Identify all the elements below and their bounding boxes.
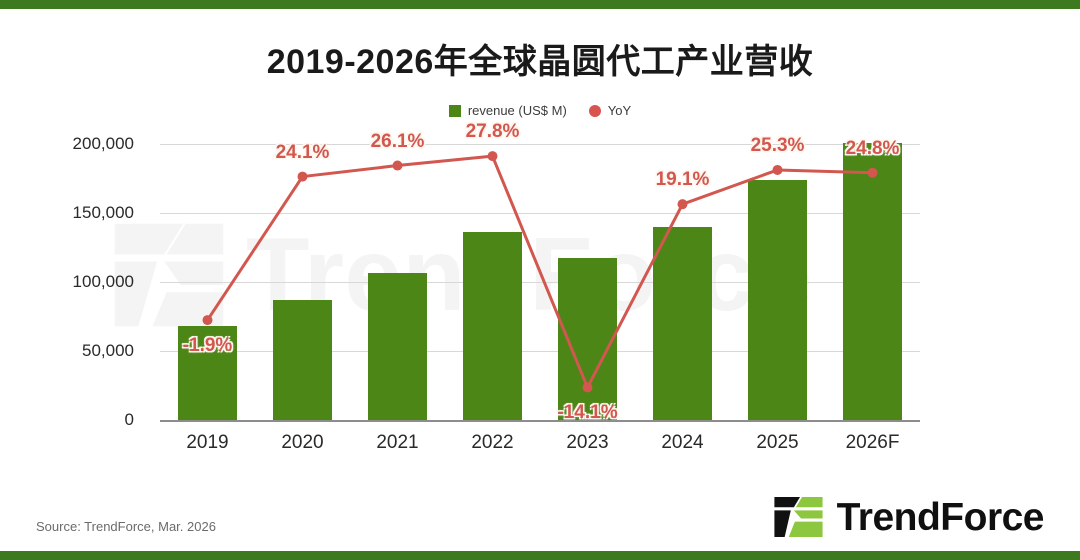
bar-2025 bbox=[748, 180, 807, 420]
x-axis-tick-labels: 20192020202120222023202420252026F bbox=[160, 432, 920, 462]
legend-circle-swatch-icon bbox=[589, 105, 601, 117]
y-axis-tick-label: 0 bbox=[125, 410, 134, 430]
bar-2024 bbox=[653, 227, 712, 420]
bar-2022 bbox=[463, 232, 522, 420]
bar-2026F bbox=[843, 143, 902, 420]
legend-item-yoy: YoY bbox=[589, 103, 631, 118]
yoy-data-label-2024: 19.1% bbox=[656, 169, 710, 191]
x-axis-tick-label: 2021 bbox=[376, 432, 418, 454]
yoy-data-label-2022: 27.8% bbox=[466, 121, 520, 143]
x-axis-tick-label: 2024 bbox=[661, 432, 703, 454]
x-axis-tick-label: 2020 bbox=[281, 432, 323, 454]
bar-2020 bbox=[273, 300, 332, 420]
top-accent-bar bbox=[0, 0, 1080, 9]
y-axis-tick-label: 100,000 bbox=[73, 272, 134, 292]
x-axis-tick-label: 2019 bbox=[186, 432, 228, 454]
axis-baseline bbox=[160, 420, 920, 422]
yoy-data-label-2023: -14.1% bbox=[557, 402, 617, 424]
yoy-data-label-2026F: 24.8% bbox=[846, 138, 900, 160]
y-axis-tick-labels: 050,000100,000150,000200,000 bbox=[0, 144, 146, 420]
y-axis-tick-label: 200,000 bbox=[73, 134, 134, 154]
chart-plot-area bbox=[160, 144, 920, 420]
bar-2023 bbox=[558, 258, 617, 420]
trendforce-logo-text: TrendForce bbox=[837, 498, 1044, 537]
legend-square-swatch-icon bbox=[449, 105, 461, 117]
x-axis-tick-label: 2023 bbox=[566, 432, 608, 454]
yoy-data-label-2019: -1.9% bbox=[183, 335, 233, 357]
gridline bbox=[160, 144, 920, 145]
x-axis-tick-label: 2025 bbox=[756, 432, 798, 454]
legend-item-revenue: revenue (US$ M) bbox=[449, 103, 567, 118]
yoy-data-label-2021: 26.1% bbox=[371, 131, 425, 153]
trendforce-logo-mark-icon bbox=[773, 496, 825, 538]
legend-item-revenue-label: revenue (US$ M) bbox=[468, 103, 567, 118]
y-axis-tick-label: 150,000 bbox=[73, 203, 134, 223]
bar-2021 bbox=[368, 273, 427, 420]
slide-root: 2019-2026年全球晶圆代工产业营收 revenue (US$ M) YoY… bbox=[0, 0, 1080, 560]
trendforce-logo: TrendForce bbox=[773, 496, 1044, 538]
chart-legend: revenue (US$ M) YoY bbox=[0, 103, 1080, 118]
bottom-accent-bar bbox=[0, 551, 1080, 560]
page-title: 2019-2026年全球晶圆代工产业营收 bbox=[0, 34, 1080, 83]
y-axis-tick-label: 50,000 bbox=[82, 341, 134, 361]
x-axis-tick-label: 2022 bbox=[471, 432, 513, 454]
yoy-data-label-2025: 25.3% bbox=[751, 135, 805, 157]
source-note: Source: TrendForce, Mar. 2026 bbox=[36, 519, 216, 534]
yoy-data-label-2020: 24.1% bbox=[276, 142, 330, 164]
x-axis-tick-label: 2026F bbox=[846, 432, 900, 454]
legend-item-yoy-label: YoY bbox=[608, 103, 631, 118]
